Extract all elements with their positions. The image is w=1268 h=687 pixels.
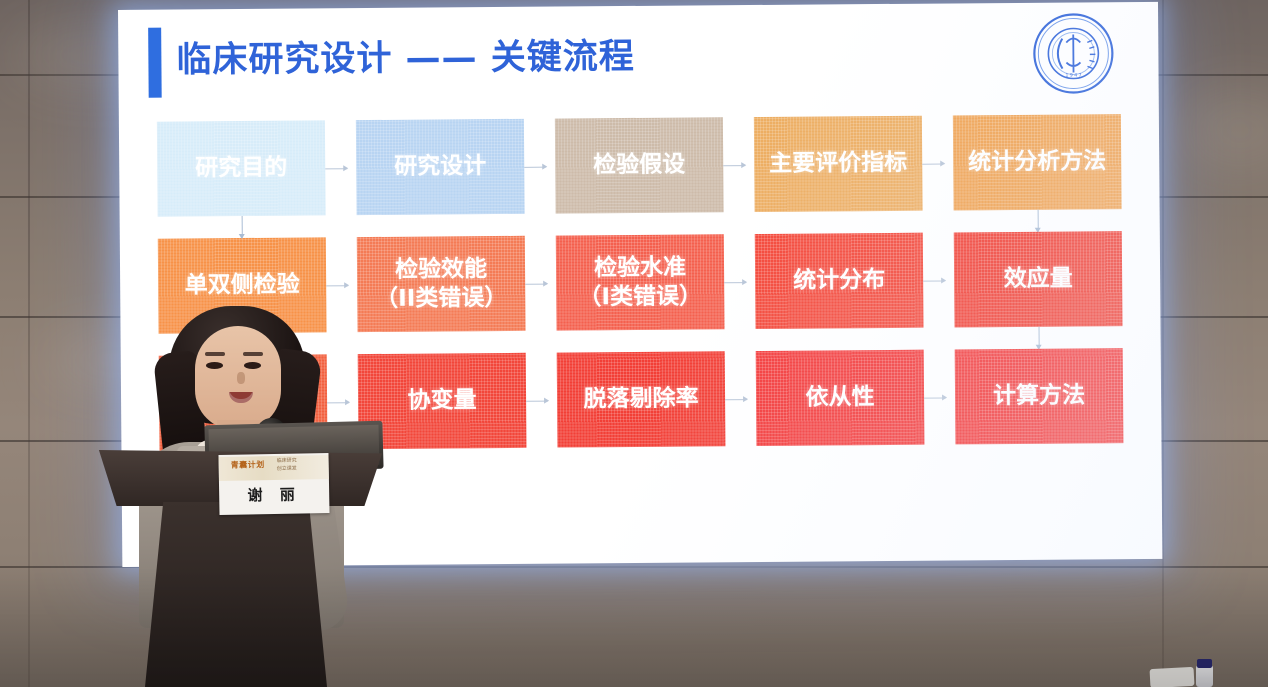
flow-cell[interactable]: 统计分析方法 (953, 114, 1122, 210)
flow-cell-label: 统计分析方法 (962, 148, 1112, 177)
connector-arrow-right (724, 282, 746, 283)
connector-arrow-down (1039, 327, 1040, 349)
flow-cell-label: 单双侧检验 (179, 271, 306, 300)
wall-seam-vertical (1162, 0, 1164, 687)
speaker-nose (237, 372, 245, 384)
flow-cell-label: 协变量 (401, 387, 482, 416)
flow-cell[interactable]: 检验水准（I类错误） (556, 234, 725, 330)
flow-cell-label: 检验水准（I类错误） (572, 254, 708, 311)
flow-cell[interactable]: 检验假设 (555, 117, 724, 213)
connector-arrow-right (526, 400, 548, 401)
flow-cell-label: 脱落剔除率 (577, 385, 704, 414)
flow-row: 研究目的 研究设计 检验假设 主要评价指标 统计分析方法 (157, 114, 1122, 217)
flow-cell-label: 统计分布 (787, 266, 891, 295)
flow-cell-label: 研究设计 (388, 153, 492, 182)
flow-cell-label: 主要评价指标 (763, 149, 913, 178)
connector-arrow-right (725, 399, 747, 400)
flow-cell[interactable]: 主要评价指标 (754, 116, 923, 212)
nameplate-program-subtitle: 临床研究创立课发 (277, 458, 297, 473)
flow-cell-label: 检验效能（II类错误） (369, 255, 514, 312)
university-seal-logo: 1 9 4 7 (1032, 12, 1115, 95)
flow-cell-label: 研究目的 (189, 154, 293, 183)
flow-cell[interactable]: 依从性 (756, 350, 925, 446)
flow-cell-label: 效应量 (998, 265, 1079, 294)
flow-cell-label: 依从性 (799, 383, 880, 412)
connector-arrow-right (524, 166, 546, 167)
podium: 青囊计划 临床研究创立课发 谢 丽 (93, 432, 388, 687)
svg-text:1 9 4 7: 1 9 4 7 (1065, 72, 1081, 78)
flow-cell[interactable]: 研究设计 (356, 119, 525, 215)
page-title: 临床研究设计 —— 关键流程 (176, 28, 635, 83)
water-bottle (1196, 665, 1213, 687)
connector-arrow-right (923, 280, 945, 281)
conference-room-photo: 临床研究设计 —— 关键流程 1 9 4 7 研究目的 (0, 0, 1268, 687)
nameplate-program-title: 青囊计划 (231, 459, 265, 471)
connector-arrow-right (525, 283, 547, 284)
flow-cell[interactable]: 研究目的 (157, 120, 326, 216)
speaker-eye (206, 362, 223, 369)
connector-arrow-right (922, 163, 944, 164)
flow-cell[interactable]: 脱落剔除率 (557, 351, 726, 447)
flow-cell[interactable]: 检验效能（II类错误） (357, 236, 526, 332)
flow-cell-label: 检验假设 (587, 151, 691, 180)
connector-arrow-right (924, 397, 946, 398)
speaker-nameplate: 青囊计划 临床研究创立课发 谢 丽 (218, 453, 329, 515)
wall-seam-vertical (28, 0, 30, 687)
podium-base (145, 502, 327, 687)
flow-cell-label: 计算方法 (987, 382, 1091, 411)
speaker-eyebrow (243, 352, 263, 356)
flow-cell[interactable]: 统计分布 (755, 233, 924, 329)
flow-cell[interactable]: 计算方法 (955, 348, 1124, 444)
flow-cell[interactable]: 效应量 (954, 231, 1123, 327)
connector-arrow-down (1038, 210, 1039, 232)
connector-arrow-right (326, 285, 348, 286)
desk-paper (1150, 667, 1195, 687)
wall-highlight (1180, 90, 1268, 170)
speaker-eyebrow (205, 352, 225, 356)
connector-arrow-right (325, 168, 347, 169)
speaker-eye (244, 362, 261, 369)
connector-arrow-down (242, 216, 243, 238)
water-bottle-cap (1197, 659, 1212, 668)
title-accent-bar (148, 28, 162, 98)
nameplate-speaker-name: 谢 丽 (219, 483, 329, 506)
connector-arrow-right (723, 165, 745, 166)
